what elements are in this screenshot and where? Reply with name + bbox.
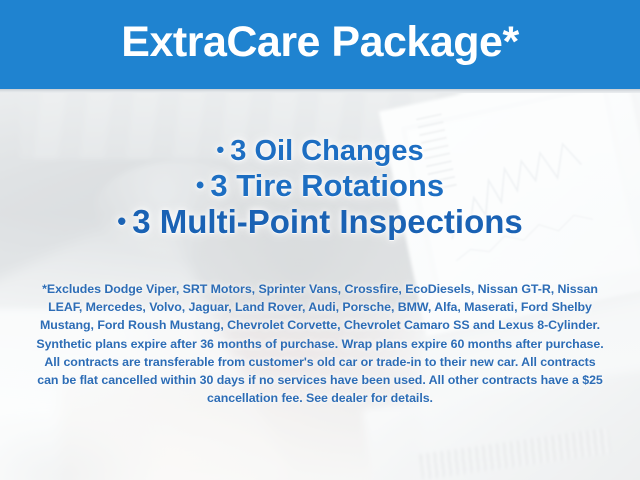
header-banner: ExtraCare Package* [0,0,640,89]
page-title: ExtraCare Package* [0,0,640,89]
benefit-item-tire-rotations: •3 Tire Rotations [0,168,640,203]
promo-content: •3 Oil Changes •3 Tire Rotations •3 Mult… [0,89,640,480]
benefit-item-multi-point-inspections: •3 Multi-Point Inspections [0,203,640,241]
benefits-list: •3 Oil Changes •3 Tire Rotations •3 Mult… [0,135,640,241]
bullet-icon: • [117,208,126,236]
disclaimer-text: *Excludes Dodge Viper, SRT Motors, Sprin… [34,280,606,407]
extracare-package-ad: ExtraCare Package* •3 Oil Changes •3 Tir… [0,0,640,480]
benefit-label: 3 Oil Changes [230,135,423,167]
banner-divider [0,89,640,93]
benefit-item-oil-changes: •3 Oil Changes [0,135,640,168]
benefit-label: 3 Multi-Point Inspections [132,203,523,240]
benefit-label: 3 Tire Rotations [210,168,444,203]
bullet-icon: • [196,172,204,199]
bullet-icon: • [216,137,224,162]
